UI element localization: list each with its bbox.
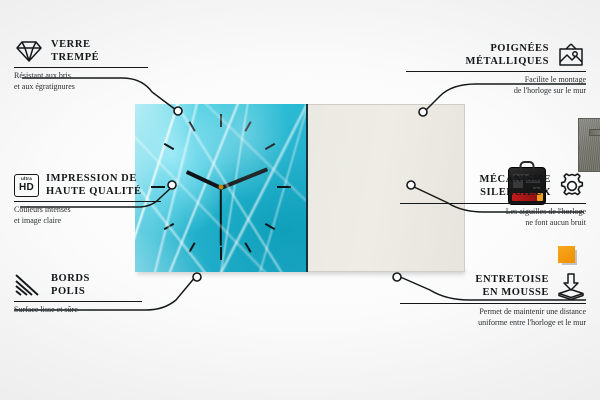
clock-tick bbox=[244, 242, 251, 253]
feature-title-line1: IMPRESSION DE bbox=[46, 172, 142, 185]
clock-tick bbox=[265, 143, 276, 150]
feature-desc-line2: et aux égratignures bbox=[14, 82, 194, 93]
picture-hanger-icon bbox=[556, 42, 586, 68]
feature-desc-line1: Résistant aux bris bbox=[14, 71, 194, 82]
feature-desc-line2: uniforme entre l'horloge et le mur bbox=[400, 318, 586, 329]
foam-spacer-part bbox=[558, 246, 575, 263]
feature-rule bbox=[400, 203, 586, 204]
clock-tick bbox=[188, 242, 195, 253]
feature-title-line1: VERRE bbox=[51, 38, 99, 51]
feature-entretoise-en-mousse: ENTRETOISE EN MOUSSE Permet de maintenir… bbox=[400, 272, 586, 328]
clock-tick bbox=[220, 114, 222, 127]
clock-tick bbox=[164, 143, 175, 150]
clock-tick bbox=[220, 247, 222, 260]
feature-desc-line1: Surface lisse et sûre bbox=[14, 305, 189, 316]
clock-minute-hand bbox=[220, 167, 268, 189]
feature-title-line2: POLIS bbox=[51, 285, 90, 298]
diamond-icon bbox=[14, 39, 44, 64]
feature-title-line1: MÉCANISME bbox=[480, 173, 551, 186]
clock-center-cap bbox=[219, 185, 224, 190]
feature-title-line2: EN MOUSSE bbox=[475, 286, 549, 299]
feature-desc-line1: Facilite le montage bbox=[406, 75, 586, 86]
feature-desc-line2: et image claire bbox=[14, 216, 204, 227]
feature-title-line2: TREMPÉ bbox=[51, 51, 99, 64]
feature-impression-haute-qualite: ultra HD IMPRESSION DE HAUTE QUALITÉ Cou… bbox=[14, 172, 204, 226]
feature-rule bbox=[14, 301, 142, 302]
foam-spacer-icon bbox=[556, 272, 586, 300]
feature-verre-trempe: VERRE TREMPÉ Résistant aux bris et aux é… bbox=[14, 38, 194, 92]
feature-rule bbox=[406, 71, 586, 72]
feature-rule bbox=[14, 201, 161, 202]
feature-title-line2: MÉTALLIQUES bbox=[466, 55, 549, 68]
clock-tick bbox=[188, 121, 195, 132]
feature-rule bbox=[14, 67, 148, 68]
feature-desc-line1: Les aiguilles de l'horloge bbox=[400, 207, 586, 218]
ultra-hd-icon: ultra HD bbox=[14, 174, 39, 197]
feature-rule bbox=[400, 303, 586, 304]
gear-icon bbox=[558, 172, 586, 200]
feature-desc-line2: ne font aucun bruit bbox=[400, 218, 586, 229]
polished-edge-icon bbox=[14, 273, 44, 297]
feature-mecanisme-silencieux: MÉCANISME SILENCIEUX Les aiguilles de l'… bbox=[400, 172, 586, 228]
clock-second-hand bbox=[220, 188, 222, 246]
feature-desc-line2: de l'horloge sur le mur bbox=[406, 86, 586, 97]
mechanism-hanging-loop bbox=[520, 161, 535, 170]
feature-poignees-metalliques: POIGNÉES MÉTALLIQUES Facilite le montage… bbox=[406, 42, 586, 96]
feature-desc-line1: Permet de maintenir une distance bbox=[400, 307, 586, 318]
clock-tick bbox=[277, 186, 291, 188]
hd-icon-main-label: HD bbox=[19, 183, 34, 193]
clock-tick bbox=[244, 121, 251, 132]
hanger-keyhole-slot bbox=[589, 129, 600, 136]
feature-title-line2: SILENCIEUX bbox=[480, 186, 551, 199]
feature-title-line1: ENTRETOISE bbox=[475, 273, 549, 286]
clock-tick bbox=[265, 223, 276, 230]
infographic-page: VERRE TREMPÉ Résistant aux bris et aux é… bbox=[0, 0, 600, 400]
feature-bords-polis: BORDS POLIS Surface lisse et sûre bbox=[14, 272, 189, 316]
metal-hanger-plate bbox=[578, 118, 600, 172]
feature-title-line1: POIGNÉES bbox=[466, 42, 549, 55]
feature-desc-line1: Couleurs intenses bbox=[14, 205, 204, 216]
feature-title-line2: HAUTE QUALITÉ bbox=[46, 185, 142, 198]
feature-title-line1: BORDS bbox=[51, 272, 90, 285]
